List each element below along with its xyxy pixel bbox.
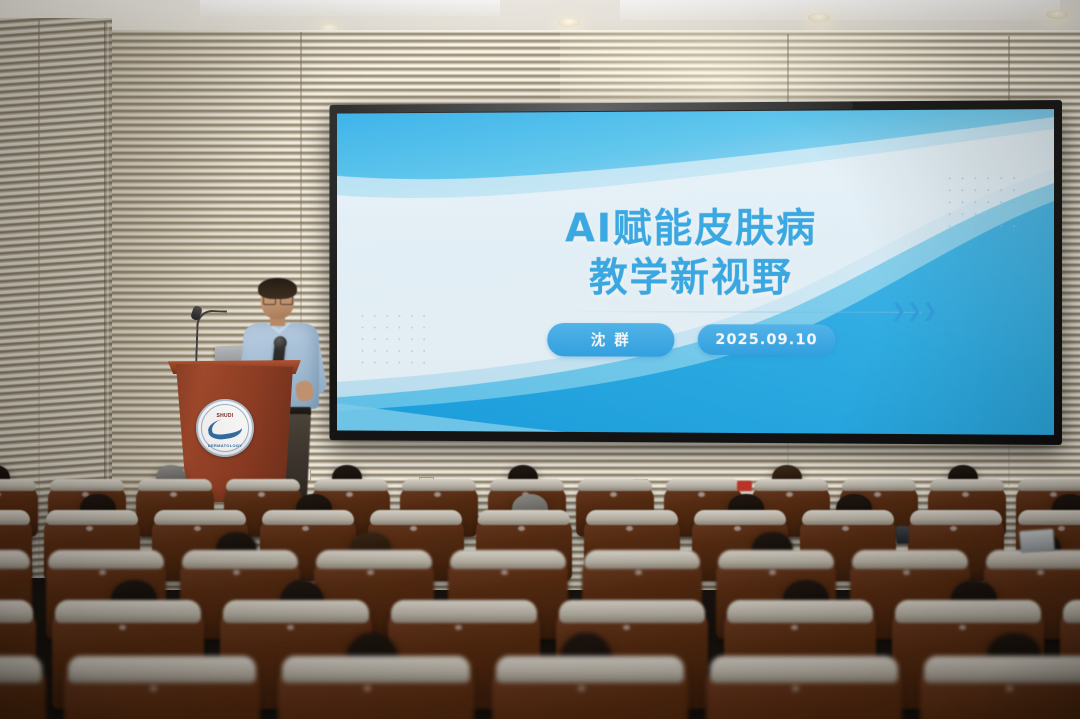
display-bezel: AI赋能皮肤病 教学新视野 沈 群 2025.09.10 ❯❯❯ [329,100,1062,445]
ceiling-recess-left [200,0,500,16]
presentation-display[interactable]: AI赋能皮肤病 教学新视野 沈 群 2025.09.10 ❯❯❯ [329,100,1062,445]
auditorium-seat [492,669,688,719]
downlight-icon [808,13,830,22]
slide-title-line2: 教学新视野 [565,254,817,303]
auditorium-seat [64,669,260,719]
slide-title-line1: AI赋能皮肤病 [565,205,817,254]
red-object [737,481,752,491]
emblem-bottom-text: DERMATOLOGY [196,443,254,448]
audience-seating [0,455,1080,719]
attendee-phone [896,526,909,544]
auditorium-seat [920,669,1080,719]
audience-row [0,455,1080,719]
divider-line [555,311,922,313]
podium-emblem: SHUDI DERMATOLOGY [196,399,254,457]
chevron-right-icon: ❯❯❯ [891,299,938,321]
slide-meta-row: 沈 群 2025.09.10 ❯❯❯ [547,323,835,357]
presenter-badge: 沈 群 [547,323,674,357]
ceiling-recess-right [620,0,1060,20]
downlight-icon [1046,10,1068,19]
auditorium-seat [706,669,902,719]
slide-content: AI赋能皮肤病 教学新视野 沈 群 2025.09.10 ❯❯❯ [337,109,1054,435]
slide-title: AI赋能皮肤病 教学新视野 [565,205,817,303]
downlight-icon [558,18,580,27]
auditorium-seat [278,669,474,719]
date-badge: 2025.09.10 [698,324,836,355]
attendee-laptop [1019,529,1054,553]
slide-screen[interactable]: AI赋能皮肤病 教学新视野 沈 群 2025.09.10 ❯❯❯ [337,109,1054,435]
lecture-hall-scene: AI赋能皮肤病 教学新视野 沈 群 2025.09.10 ❯❯❯ [0,0,1080,719]
auditorium-seat [0,669,46,719]
glasses-icon [263,295,293,303]
